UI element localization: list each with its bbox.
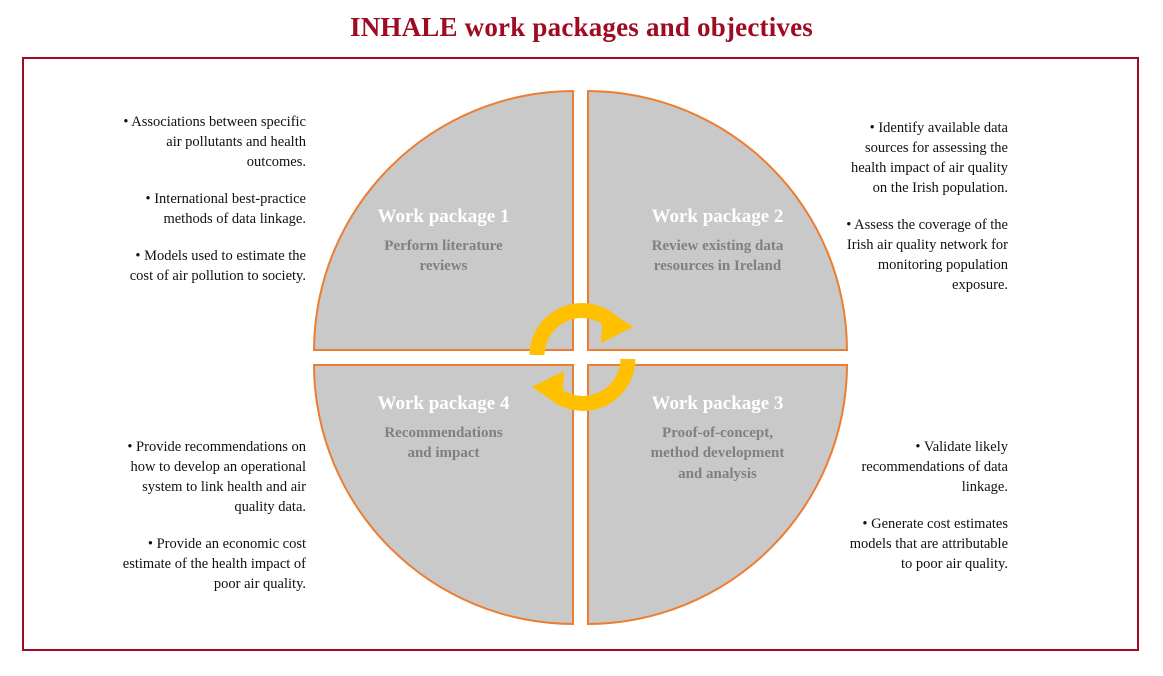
work-package-3-title: Work package 3 xyxy=(589,393,846,416)
objectives-bottom-right: • Validate likely recommendations of dat… xyxy=(846,437,1008,574)
page-title: INHALE work packages and objectives xyxy=(0,12,1163,43)
work-package-4-subtitle: Recommendations and impact xyxy=(315,423,572,464)
work-package-3-subtitle: Proof-of-concept, method development and… xyxy=(589,423,846,484)
objective-item: • Provide an economic cost estimate of t… xyxy=(118,534,306,594)
work-package-1-subtitle: Perform literature reviews xyxy=(315,236,572,277)
work-package-1-title: Work package 1 xyxy=(315,206,572,229)
diagram-canvas: INHALE work packages and objectives Work… xyxy=(0,0,1163,676)
objective-item: • Generate cost estimates models that ar… xyxy=(846,514,1008,574)
objective-item: • Associations between specific air poll… xyxy=(118,112,306,172)
work-package-wheel: Work package 1 Perform literature review… xyxy=(313,90,848,625)
objective-item: • Assess the coverage of the Irish air q… xyxy=(836,215,1008,295)
objective-item: • Identify available data sources for as… xyxy=(836,118,1008,198)
objective-item: • International best-practice methods of… xyxy=(118,189,306,229)
work-package-1-quadrant[interactable]: Work package 1 Perform literature review… xyxy=(313,90,574,351)
objective-item: • Models used to estimate the cost of ai… xyxy=(118,246,306,286)
objective-item: • Validate likely recommendations of dat… xyxy=(846,437,1008,497)
work-package-2-quadrant[interactable]: Work package 2 Review existing data reso… xyxy=(587,90,848,351)
objectives-top-right: • Identify available data sources for as… xyxy=(836,118,1008,295)
work-package-2-subtitle: Review existing data resources in Irelan… xyxy=(589,236,846,277)
work-package-4-quadrant[interactable]: Work package 4 Recommendations and impac… xyxy=(313,364,574,625)
work-package-3-quadrant[interactable]: Work package 3 Proof-of-concept, method … xyxy=(587,364,848,625)
objectives-bottom-left: • Provide recommendations on how to deve… xyxy=(118,437,306,594)
objective-item: • Provide recommendations on how to deve… xyxy=(118,437,306,517)
objectives-top-left: • Associations between specific air poll… xyxy=(118,112,306,286)
work-package-2-title: Work package 2 xyxy=(589,206,846,229)
work-package-4-title: Work package 4 xyxy=(315,393,572,416)
